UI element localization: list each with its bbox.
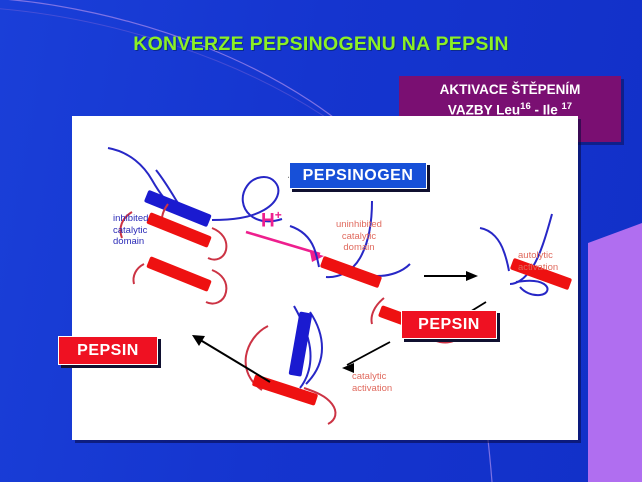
annotation-uninhibited-catalytic-domain: uninhibited catalytic domain	[336, 219, 382, 254]
annotation-autolytic-activation: autolytic activation	[518, 250, 558, 273]
label-pepsin-middle[interactable]: PEPSIN	[401, 310, 497, 339]
callout-line-1: AKTIVACE ŠTĚPENÍM	[403, 81, 617, 98]
molecule-free-pepsin-lower-left	[133, 256, 226, 303]
pepsin-bar-lower-left	[146, 256, 212, 292]
callout-sup-16: 16	[520, 101, 531, 112]
proton-charge: +	[275, 208, 282, 222]
arrow-catalytic-activation	[342, 342, 390, 373]
proton-arrow	[246, 232, 324, 262]
label-pepsin-left[interactable]: PEPSIN	[58, 336, 158, 365]
annotation-inhibited-catalytic-domain: inhibited catalytic domain	[113, 213, 148, 248]
arrow-autolytic	[424, 271, 478, 281]
label-pepsinogen[interactable]: PEPSINOGEN	[289, 162, 427, 189]
slide-canvas: KONVERZE PEPSINOGENU NA PEPSIN AKTIVACE …	[0, 0, 642, 482]
molecule-catalytic-activation	[246, 306, 336, 424]
callout-sup-17: 17	[562, 101, 573, 112]
page-title: KONVERZE PEPSINOGENU NA PEPSIN	[0, 33, 642, 56]
proton-symbol: H	[261, 210, 275, 231]
annotation-proton: H+	[261, 208, 282, 232]
uninhibited-catalytic-domain-bar	[320, 256, 382, 288]
arrow-to-pepsin-left	[192, 335, 270, 382]
annotation-catalytic-activation: catalytic activation	[352, 371, 392, 394]
